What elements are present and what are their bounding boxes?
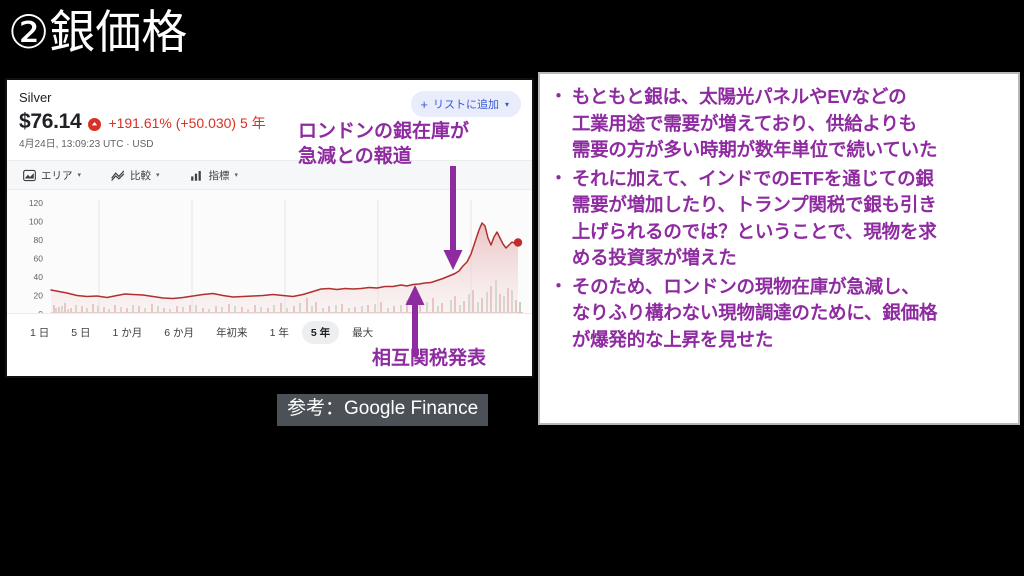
- list-item: ・ それに加えて、インドでのETFを通じての銀 需要が増加したり、トランプ関税で…: [550, 166, 1010, 272]
- bullet-text: それに加えて、インドでのETFを通じての銀 需要が増加したり、トランプ関税で銀も…: [572, 166, 937, 272]
- range-5y[interactable]: 5 年: [302, 321, 339, 344]
- time-range-selector: 1 日 5 日 1 か月 6 か月 年初来 1 年 5 年 最大: [7, 313, 532, 350]
- chart-type-label: エリア: [41, 168, 73, 183]
- chevron-down-icon: ▾: [235, 171, 239, 179]
- add-to-list-label: リストに追加: [433, 96, 499, 112]
- arrow-up-circle-icon: [88, 118, 101, 131]
- source-caption: 参考：Google Finance: [277, 394, 488, 426]
- range-6m[interactable]: 6 か月: [155, 321, 203, 344]
- compare-line-icon: [111, 169, 125, 182]
- add-to-list-button[interactable]: + リストに追加 ▾: [411, 91, 521, 117]
- area-chart-icon: [23, 169, 36, 182]
- chevron-down-icon: ▾: [156, 171, 160, 179]
- list-item: ・ そのため、ロンドンの現物在庫が急減し、 なりふり構わない現物調達のために、銀…: [550, 274, 1010, 354]
- current-price: $76.14: [19, 110, 81, 134]
- indicators-dropdown[interactable]: 指標 ▾: [190, 168, 239, 183]
- chevron-down-icon: ▾: [505, 100, 509, 109]
- compare-dropdown[interactable]: 比較 ▾: [111, 168, 160, 183]
- range-5d[interactable]: 5 日: [62, 321, 99, 344]
- list-item: ・ もともと銀は、太陽光パネルやEVなどの 工業用途で需要が増えており、供給より…: [550, 84, 1010, 164]
- svg-text:20: 20: [34, 291, 44, 301]
- range-1d[interactable]: 1 日: [21, 321, 58, 344]
- price-change: +191.61% (+50.030) 5 年: [108, 113, 265, 133]
- bullet-text: そのため、ロンドンの現物在庫が急減し、 なりふり構わない現物調達のために、銀価格…: [572, 274, 937, 354]
- range-ytd[interactable]: 年初来: [207, 321, 257, 344]
- svg-text:100: 100: [29, 217, 43, 227]
- annotation-reciprocal-tariff: 相互関税発表: [372, 346, 486, 371]
- bullet-text: もともと銀は、太陽光パネルやEVなどの 工業用途で需要が増えており、供給よりも …: [572, 84, 937, 164]
- last-price-marker: [514, 238, 522, 246]
- chevron-down-icon: ▾: [78, 171, 82, 179]
- svg-text:60: 60: [34, 254, 44, 264]
- bullet-marker: ・: [550, 274, 567, 300]
- svg-text:40: 40: [34, 272, 44, 282]
- chart-type-area-dropdown[interactable]: エリア ▾: [23, 168, 81, 183]
- annotation-arrow-down-icon: [442, 166, 464, 274]
- svg-text:80: 80: [34, 235, 44, 245]
- page-title: ②銀価格: [8, 2, 187, 62]
- plus-icon: +: [420, 98, 428, 111]
- notes-panel: ・ もともと銀は、太陽光パネルやEVなどの 工業用途で需要が増えており、供給より…: [538, 72, 1020, 425]
- range-1m[interactable]: 1 か月: [104, 321, 152, 344]
- compare-label: 比較: [130, 168, 151, 183]
- slide-root: ②銀価格 Silver $76.14 +191.61% (+50.030) 5 …: [0, 0, 1024, 576]
- indicator-bars-icon: [190, 169, 204, 182]
- annotation-london-inventory: ロンドンの銀在庫が 急減との報道: [298, 119, 469, 169]
- bullet-marker: ・: [550, 84, 567, 110]
- range-max[interactable]: 最大: [343, 321, 382, 344]
- annotation-arrow-up-icon: [404, 285, 426, 357]
- notes-list: ・ もともと銀は、太陽光パネルやEVなどの 工業用途で需要が増えており、供給より…: [550, 84, 1010, 353]
- svg-text:120: 120: [29, 198, 43, 208]
- indicators-label: 指標: [209, 168, 230, 183]
- y-axis-ticks: 120 100 80 60 40 20 0: [29, 198, 43, 319]
- bullet-marker: ・: [550, 166, 567, 192]
- range-1y[interactable]: 1 年: [261, 321, 298, 344]
